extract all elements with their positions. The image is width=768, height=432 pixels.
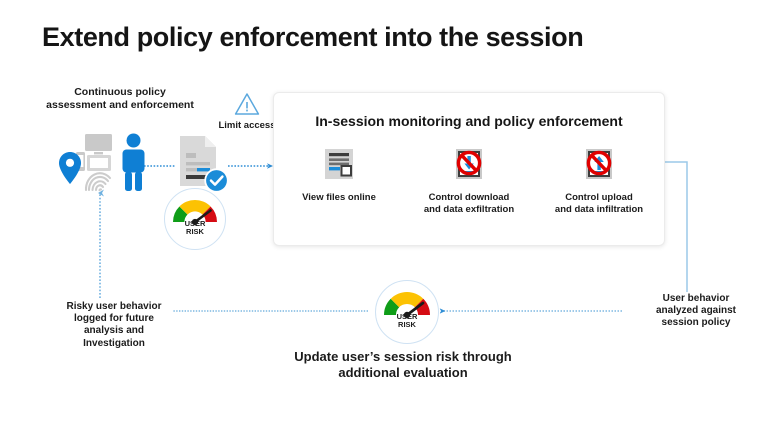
view-files-online-icon — [322, 145, 356, 183]
user-person-icon — [123, 134, 145, 192]
continuous-policy-icon-group — [58, 132, 150, 194]
tile-control-download[interactable]: Control download and data exfiltration — [409, 145, 529, 216]
gauge-top-label-2: RISK — [165, 228, 225, 236]
panel-tiles: View files online — [274, 145, 664, 216]
risky-behavior-caption: Risky user behavior logged for future an… — [38, 301, 190, 350]
gauge-user-risk-top: USER RISK — [164, 188, 226, 250]
document-with-check-icon — [178, 134, 230, 196]
update-session-risk-caption: Update user’s session risk through addit… — [258, 349, 548, 382]
tile-label-view-files: View files online — [302, 192, 376, 204]
warning-triangle-icon — [234, 92, 260, 116]
block-upload-icon — [582, 145, 616, 183]
user-behavior-caption: User behavior analyzed against session p… — [630, 293, 762, 330]
tile-view-files-online[interactable]: View files online — [279, 145, 399, 204]
fingerprint-icon — [86, 173, 110, 190]
continuous-policy-caption: Continuous policy assessment and enforce… — [45, 86, 195, 112]
tile-label-control-download: Control download and data exfiltration — [424, 192, 514, 216]
gauge-bottom-label-2: RISK — [376, 321, 438, 329]
gauge-user-risk-bottom: USER RISK — [375, 280, 439, 344]
in-session-panel: In-session monitoring and policy enforce… — [273, 92, 665, 246]
panel-title: In-session monitoring and policy enforce… — [274, 113, 664, 129]
block-download-icon — [452, 145, 486, 183]
line-panel-to-user-behavior — [663, 162, 687, 292]
tile-label-control-upload: Control upload and data infiltration — [555, 192, 643, 216]
page-title: Extend policy enforcement into the sessi… — [42, 22, 583, 53]
location-pin-icon — [59, 152, 81, 184]
tile-control-upload[interactable]: Control upload and data infiltration — [539, 145, 659, 216]
devices-icon — [76, 134, 112, 171]
diagram-canvas: Extend policy enforcement into the sessi… — [0, 0, 768, 432]
